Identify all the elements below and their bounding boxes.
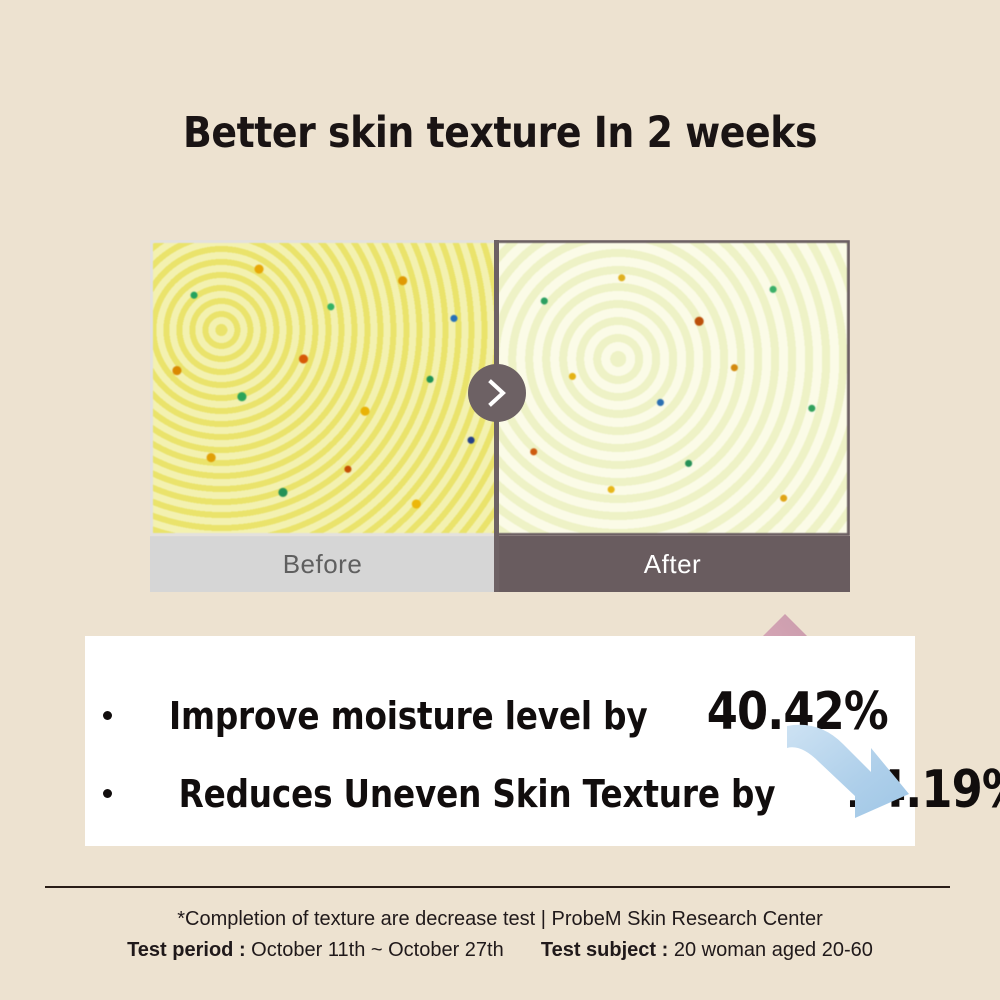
test-subject-value: 20 woman aged 20-60 bbox=[674, 939, 873, 961]
before-panel: Before bbox=[150, 240, 495, 592]
footer-meta: Test period : October 11th ~ October 27t… bbox=[0, 939, 1000, 962]
before-caption: Before bbox=[150, 536, 495, 592]
test-period-label: Test period : bbox=[127, 939, 246, 961]
before-skin-texture-image bbox=[150, 240, 495, 536]
stat-row: Improve moisture level by 40.42% bbox=[103, 682, 903, 742]
after-caption: After bbox=[495, 536, 850, 592]
after-skin-texture-image bbox=[495, 240, 850, 536]
page-title: Better skin texture In 2 weeks bbox=[60, 108, 940, 158]
arrow-down-icon bbox=[785, 718, 913, 831]
test-period-value: October 11th ~ October 27th bbox=[251, 939, 504, 961]
footer-note: *Completion of texture are decrease test… bbox=[0, 908, 1000, 931]
promo-page: Better skin texture In 2 weeks Before Af… bbox=[0, 0, 1000, 1000]
footer-divider bbox=[45, 886, 950, 888]
stat-label: Reduces Uneven Skin Texture by bbox=[179, 772, 776, 816]
test-subject-label: Test subject : bbox=[541, 939, 668, 961]
bullet-icon bbox=[103, 711, 112, 720]
stat-label: Improve moisture level by bbox=[169, 694, 648, 738]
bullet-icon bbox=[103, 789, 112, 798]
chevron-right-icon bbox=[468, 364, 526, 422]
after-panel: After bbox=[495, 240, 850, 592]
